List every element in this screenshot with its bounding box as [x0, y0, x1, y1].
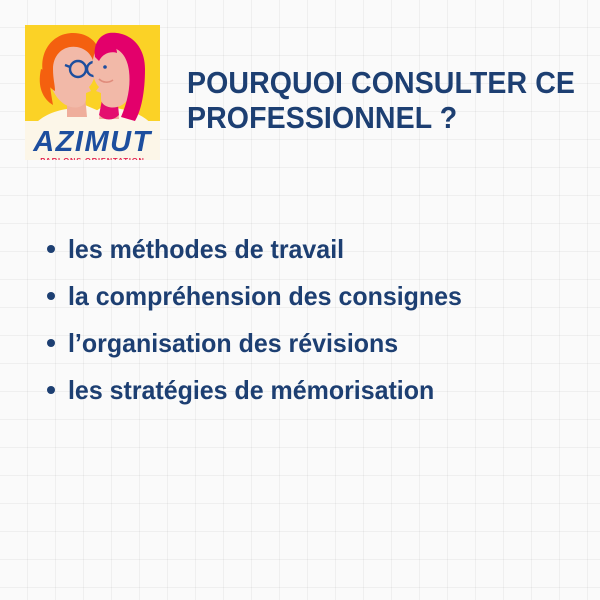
azimut-logo: AZIMUT PARLONS ORIENTATION [25, 25, 160, 160]
list-item: l’organisation des révisions [44, 326, 564, 373]
list-item-label: la compréhension des consignes [68, 279, 462, 313]
azimut-logo-artwork: AZIMUT PARLONS ORIENTATION [25, 25, 160, 160]
bullet-dot-icon [47, 386, 55, 394]
slide-canvas: AZIMUT PARLONS ORIENTATION POURQUOI CONS… [0, 0, 600, 600]
list-item: les méthodes de travail [44, 232, 564, 279]
list-item-label: les méthodes de travail [68, 232, 344, 266]
azimut-wordmark: AZIMUT [32, 126, 152, 158]
reasons-list: les méthodes de travail la compréhension… [44, 232, 564, 420]
page-title-line-1: POURQUOI CONSULTER CE [187, 65, 546, 100]
list-item: la compréhension des consignes [44, 279, 564, 326]
page-title-line-2: PROFESSIONNEL ? [187, 100, 546, 135]
list-item-label: l’organisation des révisions [68, 326, 398, 360]
list-item: les stratégies de mémorisation [44, 373, 564, 420]
bullet-dot-icon [47, 292, 55, 300]
bullet-dot-icon [47, 245, 55, 253]
page-title: POURQUOI CONSULTER CE PROFESSIONNEL ? [187, 65, 546, 135]
bullet-dot-icon [47, 339, 55, 347]
azimut-tagline: PARLONS ORIENTATION [40, 156, 145, 160]
list-item-label: les stratégies de mémorisation [68, 373, 434, 407]
pink-woman-eye [103, 65, 107, 69]
